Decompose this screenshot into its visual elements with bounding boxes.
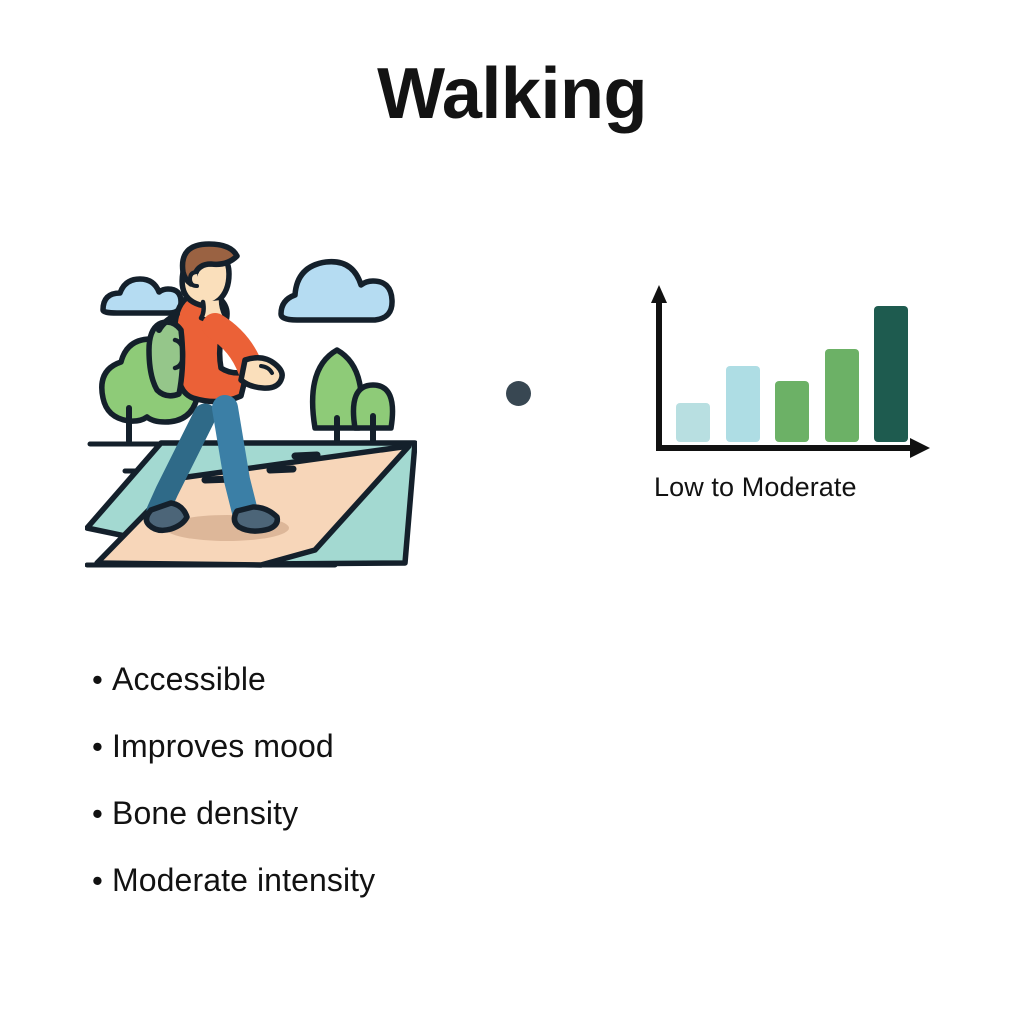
page-title: Walking	[0, 58, 1024, 130]
walking-illustration	[85, 228, 417, 572]
bar-3	[775, 381, 809, 442]
list-item-label: Accessible	[112, 663, 266, 695]
list-item-label: Moderate intensity	[112, 864, 375, 896]
list-item: • Moderate intensity	[92, 864, 792, 931]
shoe-front	[234, 507, 277, 531]
y-axis-arrowhead	[651, 285, 667, 303]
intensity-bar-chart: Low to Moderate	[640, 280, 940, 520]
slide-canvas: Walking	[0, 0, 1024, 1024]
bullet-marker-icon: •	[92, 664, 112, 695]
tree-right-small-icon	[353, 385, 392, 442]
bar-1	[676, 403, 710, 442]
bar-5	[874, 306, 908, 442]
bullet-marker-icon: •	[92, 798, 112, 829]
cloud-large-icon	[281, 262, 392, 320]
bullet-marker-icon: •	[92, 865, 112, 896]
list-item: • Accessible	[92, 663, 792, 730]
backpack	[149, 322, 183, 396]
bar-2	[726, 366, 760, 442]
list-item: • Bone density	[92, 797, 792, 864]
hand	[241, 358, 282, 388]
bar-chart-svg	[640, 280, 940, 460]
list-item-label: Bone density	[112, 797, 298, 829]
chart-caption: Low to Moderate	[654, 472, 857, 503]
bullet-marker-icon: •	[92, 731, 112, 762]
cloud-small-icon	[103, 279, 181, 313]
leg-front	[225, 408, 245, 512]
shoe-back	[146, 503, 187, 530]
x-axis-arrowhead	[910, 438, 930, 458]
bar-4	[825, 349, 859, 442]
benefits-list: • Accessible • Improves mood • Bone dens…	[92, 663, 792, 931]
dot-separator	[506, 381, 531, 406]
list-item: • Improves mood	[92, 730, 792, 797]
list-item-label: Improves mood	[112, 730, 334, 762]
